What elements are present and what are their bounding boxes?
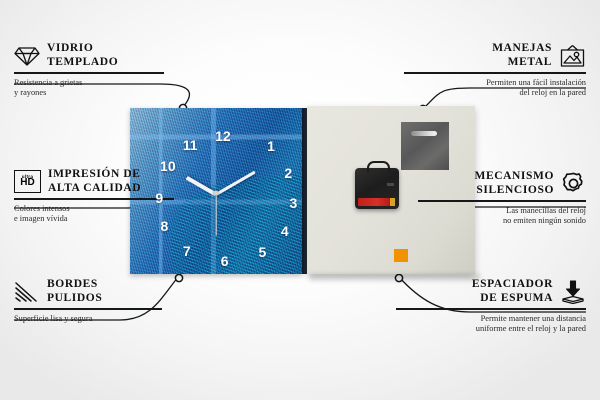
callout-manejas-metal: MANEJAS METAL Permiten una fácil instala… — [404, 42, 586, 99]
callout-title-line1: MECANISMO — [474, 170, 554, 184]
ultra-hd-icon: ultra HD — [14, 170, 41, 193]
callout-subtitle-line2: uniforme entre el reloj y la pared — [396, 324, 586, 335]
clock-number-8: 8 — [160, 219, 168, 233]
clock-number-6: 6 — [221, 254, 229, 268]
callout-title-line2: PULIDOS — [47, 292, 102, 306]
clock-number-9: 9 — [155, 191, 163, 205]
framed-picture-icon — [559, 44, 586, 68]
callout-title-line1: ESPACIADOR — [472, 278, 553, 292]
battery — [358, 198, 390, 206]
callout-subtitle-line1: Permite mantener una distancia — [396, 314, 586, 325]
clock-number-10: 10 — [160, 159, 176, 173]
clock-number-4: 4 — [281, 224, 289, 238]
callout-subtitle-line1: Permiten una fácil instalación — [404, 78, 586, 89]
callout-bordes-pulidos: BORDES PULIDOS Superficie lisa y segura — [14, 278, 162, 324]
callout-rule — [396, 308, 586, 309]
mechanism-hanger-loop — [367, 161, 390, 172]
callout-rule — [14, 308, 162, 309]
clock-number-3: 3 — [289, 196, 297, 210]
hanger-keyhole-slot — [411, 131, 437, 136]
callout-subtitle-line2: no emiten ningún sonido — [418, 216, 586, 227]
callout-subtitle-line1: Resistencia a grietas — [14, 78, 164, 89]
clock-number-11: 11 — [183, 138, 198, 152]
clock-number-12: 12 — [215, 129, 231, 143]
ultra-hd-large-text: HD — [20, 178, 34, 188]
diamond-icon — [14, 45, 40, 67]
callout-title-line1: BORDES — [47, 278, 102, 292]
clock-mechanism-box — [355, 168, 399, 209]
callout-title-line1: MANEJAS — [492, 42, 552, 56]
callout-title-line2: DE ESPUMA — [472, 292, 553, 306]
clock-number-1: 1 — [267, 139, 275, 153]
clock-center-pin — [214, 190, 219, 195]
callout-title-line2: SILENCIOSO — [474, 184, 554, 198]
callout-rule — [404, 72, 586, 73]
callout-title-line2: METAL — [492, 56, 552, 70]
callout-header: MANEJAS METAL — [404, 42, 586, 69]
callout-title-line1: VIDRIO — [47, 42, 118, 56]
callout-header: ESPACIADOR DE ESPUMA — [396, 278, 586, 305]
callout-header: VIDRIO TEMPLADO — [14, 42, 164, 69]
metal-hanger-plate — [401, 122, 449, 170]
callout-rule — [418, 200, 586, 201]
down-arrow-pad-icon — [560, 280, 586, 304]
clock-second-hand — [215, 193, 216, 235]
callout-subtitle-line1: Las manecillas del reloj — [418, 206, 586, 217]
clock-number-7: 7 — [183, 244, 191, 258]
clock-face: 1 2 3 4 5 6 7 8 9 10 11 12 — [130, 108, 302, 274]
callout-title-line2: TEMPLADO — [47, 56, 118, 70]
gear-icon — [561, 171, 586, 196]
callout-header: BORDES PULIDOS — [14, 278, 162, 305]
callout-subtitle-line1: Superficie lisa y segura — [14, 314, 162, 325]
diagonal-lines-icon — [14, 281, 40, 303]
foam-spacer — [394, 249, 408, 262]
clock-number-5: 5 — [259, 245, 267, 259]
callout-mecanismo-silencioso: MECANISMO SILENCIOSO Las manecillas del … — [418, 170, 586, 227]
callout-subtitle-line2: y rayones — [14, 88, 164, 99]
callout-vidrio-templado: VIDRIO TEMPLADO Resistencia a grietas y … — [14, 42, 164, 99]
infographic-canvas: 1 2 3 4 5 6 7 8 9 10 11 12 — [0, 0, 600, 400]
callout-title-line2: ALTA CALIDAD — [48, 182, 141, 196]
clock-number-2: 2 — [284, 166, 292, 180]
callout-title-line1: IMPRESIÓN DE — [48, 168, 141, 182]
mechanism-label — [387, 183, 394, 186]
callout-espaciador-espuma: ESPACIADOR DE ESPUMA Permite mantener un… — [396, 278, 586, 335]
callout-header: MECANISMO SILENCIOSO — [418, 170, 586, 197]
callout-rule — [14, 72, 164, 73]
callout-subtitle-line2: del reloj en la pared — [404, 88, 586, 99]
